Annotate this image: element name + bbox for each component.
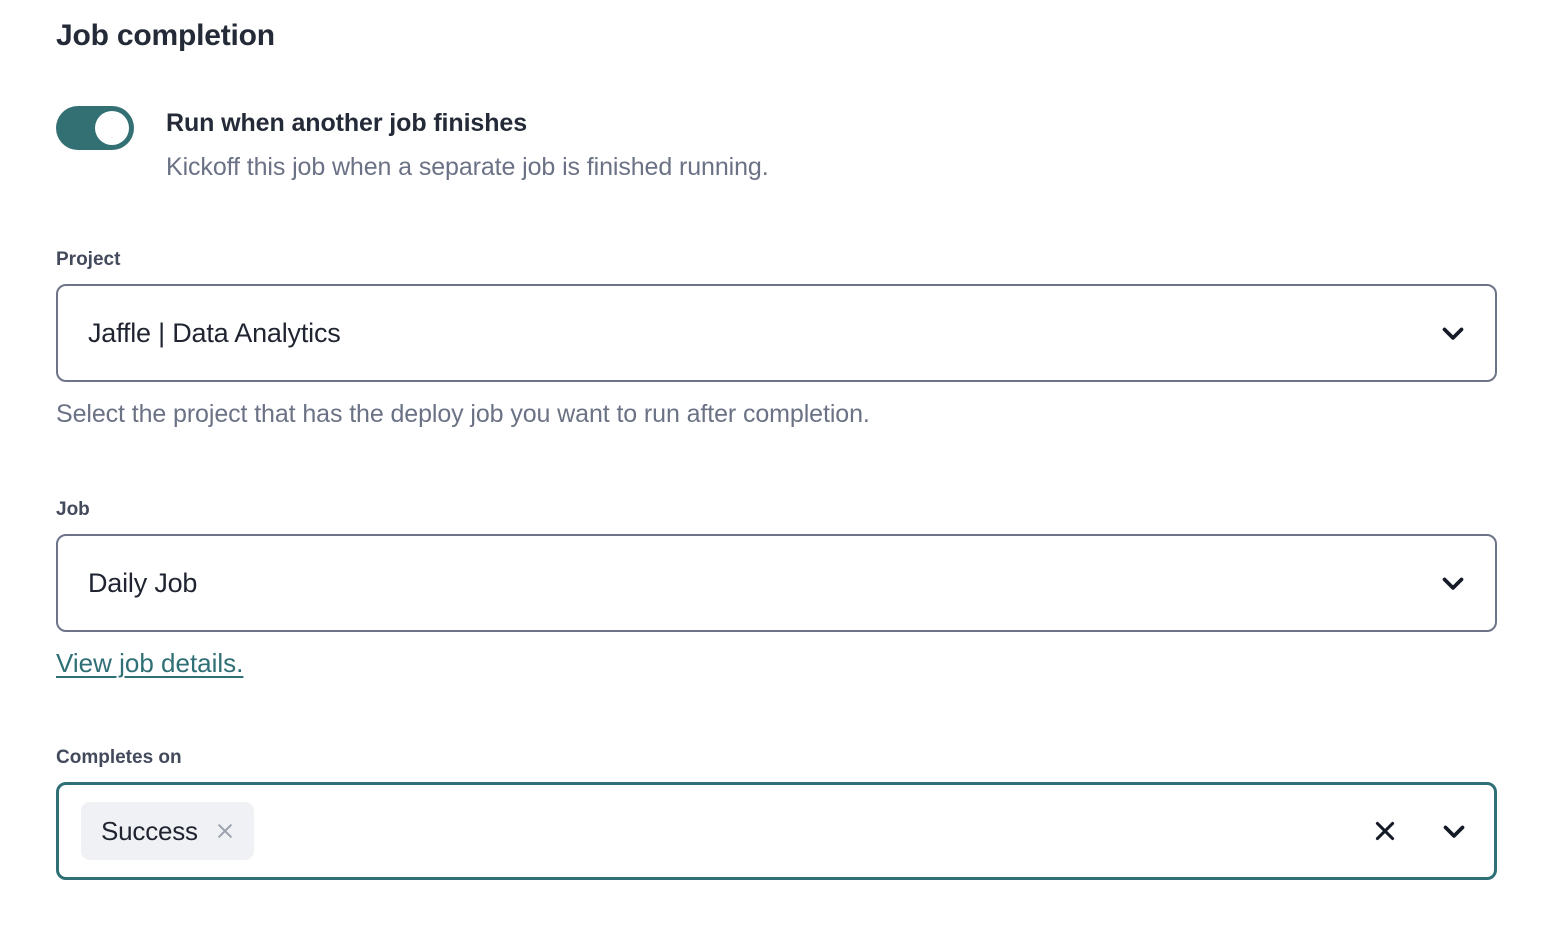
completes-on-chip-list: Success bbox=[81, 802, 1368, 860]
chevron-down-icon[interactable] bbox=[1436, 813, 1472, 849]
job-field-group: Job Daily Job View job details. bbox=[56, 498, 1497, 680]
chevron-down-icon[interactable] bbox=[1435, 315, 1471, 351]
toggle-description: Kickoff this job when a separate job is … bbox=[166, 151, 769, 183]
chip-success[interactable]: Success bbox=[81, 802, 254, 860]
toggle-knob bbox=[95, 111, 129, 145]
chip-label: Success bbox=[101, 814, 198, 848]
close-icon[interactable] bbox=[214, 820, 236, 842]
job-selected-value: Daily Job bbox=[88, 566, 1435, 600]
job-select[interactable]: Daily Job bbox=[56, 534, 1497, 632]
clear-selection-close-icon[interactable] bbox=[1368, 814, 1402, 848]
run-when-another-job-finishes-row: Run when another job finishes Kickoff th… bbox=[56, 106, 1496, 183]
project-label: Project bbox=[56, 248, 1497, 272]
completes-on-label: Completes on bbox=[56, 746, 1497, 770]
view-job-details-link[interactable]: View job details. bbox=[56, 646, 243, 680]
project-helper-text: Select the project that has the deploy j… bbox=[56, 398, 1497, 430]
toggle-label: Run when another job finishes bbox=[166, 107, 769, 139]
page-title: Job completion bbox=[56, 16, 275, 56]
job-label: Job bbox=[56, 498, 1497, 522]
project-selected-value: Jaffle | Data Analytics bbox=[88, 316, 1435, 350]
chevron-down-icon[interactable] bbox=[1435, 565, 1471, 601]
toggle-text-block: Run when another job finishes Kickoff th… bbox=[166, 106, 769, 183]
completes-on-multiselect[interactable]: Success bbox=[56, 782, 1497, 880]
run-when-another-job-finishes-toggle[interactable] bbox=[56, 106, 134, 150]
project-select[interactable]: Jaffle | Data Analytics bbox=[56, 284, 1497, 382]
job-completion-panel: Job completion Run when another job fini… bbox=[0, 0, 1564, 936]
completes-on-field-group: Completes on Success bbox=[56, 746, 1497, 880]
project-field-group: Project Jaffle | Data Analytics Select t… bbox=[56, 248, 1497, 430]
